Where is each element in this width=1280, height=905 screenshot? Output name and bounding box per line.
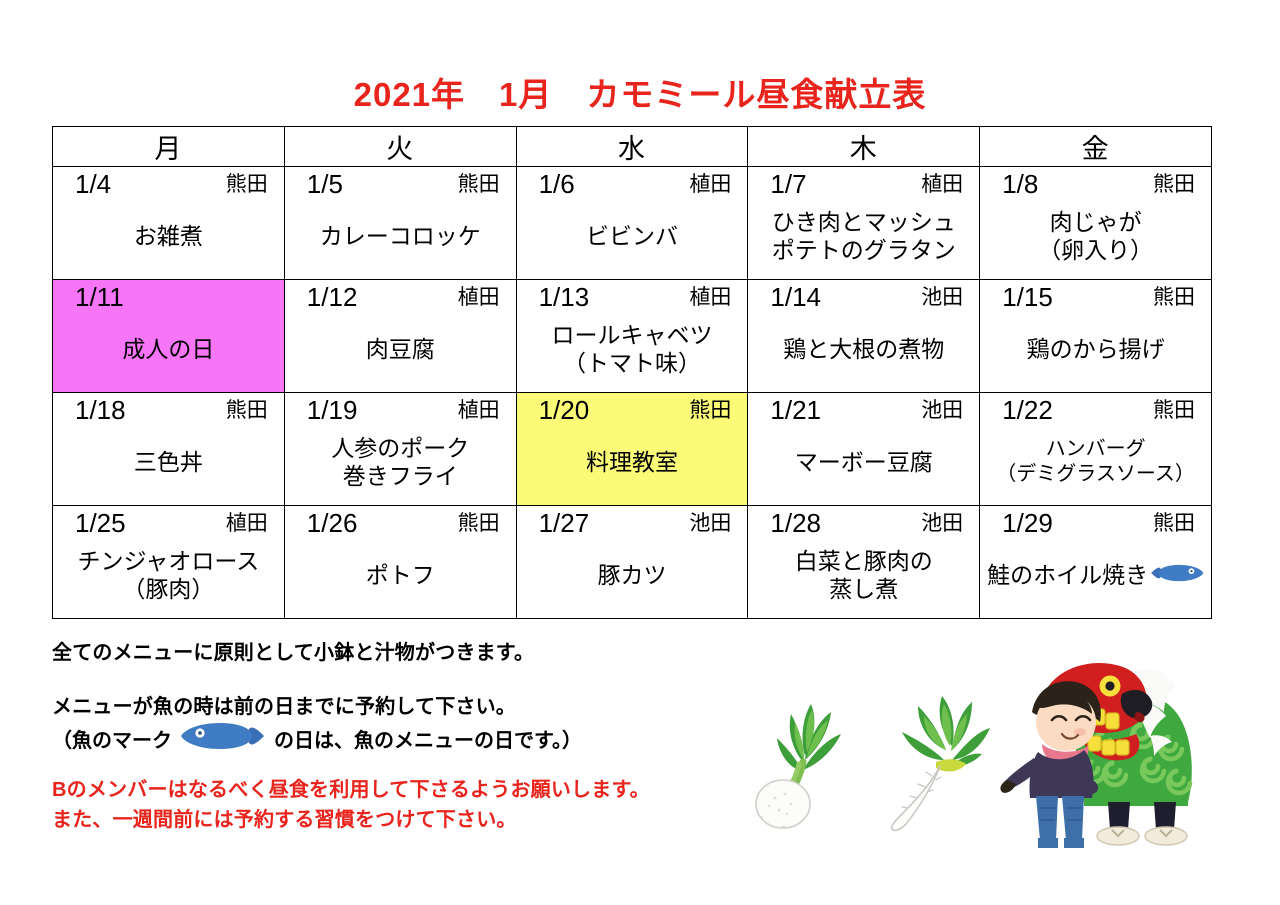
cell-menu-item: 鮭のホイル焼き — [980, 540, 1211, 618]
cell-staff-name: 植田 — [226, 508, 268, 539]
cell-date: 1/5 — [307, 169, 343, 199]
cell-menu-item: 豚カツ — [517, 540, 748, 618]
cell-staff-name: 熊田 — [1153, 395, 1195, 426]
cell-staff-name: 植田 — [921, 169, 963, 200]
cell-staff-name: 池田 — [921, 282, 963, 313]
menu-cell-1-14: 1/14池田鶏と大根の煮物 — [748, 280, 980, 393]
table-body: 1/4熊田お雑煮1/5熊田カレーコロッケ1/6植田ビビンバ1/7植田ひき肉とマッ… — [53, 167, 1212, 619]
cell-staff-name: 植田 — [458, 395, 500, 426]
menu-cell-1-6: 1/6植田ビビンバ — [516, 167, 748, 280]
cell-date: 1/12 — [307, 282, 358, 312]
fish-icon — [1150, 561, 1204, 589]
table-row: 1/4熊田お雑煮1/5熊田カレーコロッケ1/6植田ビビンバ1/7植田ひき肉とマッ… — [53, 167, 1212, 280]
menu-cell-1-18: 1/18熊田三色丼 — [53, 393, 285, 506]
cell-staff-name: 熊田 — [226, 395, 268, 426]
cell-date: 1/11 — [75, 282, 124, 312]
note-line-2: メニューが魚の時は前の日までに予約して下さい。 — [52, 692, 692, 722]
note-line-3: （魚のマーク の日は、魚のメニューの日です。） — [52, 722, 692, 759]
table-row: 1/11成人の日1/12植田肉豆腐1/13植田ロールキャベツ （トマト味）1/1… — [53, 280, 1212, 393]
cell-date: 1/26 — [307, 508, 358, 538]
menu-cell-1-26: 1/26熊田ポトフ — [284, 506, 516, 619]
cell-date: 1/15 — [1002, 282, 1053, 312]
menu-cell-1-22: 1/22熊田ハンバーグ （デミグラスソース） — [980, 393, 1212, 506]
cell-menu-item: 鶏と大根の煮物 — [748, 314, 979, 392]
column-header-monday: 月 — [53, 127, 285, 167]
cell-staff-name: 熊田 — [1153, 282, 1195, 313]
cell-date: 1/19 — [307, 395, 358, 425]
cell-menu-item: ハンバーグ （デミグラスソース） — [980, 427, 1211, 505]
cell-menu-text: 鮭のホイル焼き — [987, 561, 1148, 589]
notes-section: 全てのメニューに原則として小鉢と汁物がつきます。 メニューが魚の時は前の日までに… — [52, 638, 692, 835]
cell-menu-item: ひき肉とマッシュ ポテトのグラタン — [748, 201, 979, 279]
column-header-wednesday: 水 — [516, 127, 748, 167]
page-title: 2021年 1月 カモミール昼食献立表 — [0, 68, 1280, 116]
daikon-radish-illustration — [880, 688, 1005, 843]
menu-cell-1-28: 1/28池田白菜と豚肉の 蒸し煮 — [748, 506, 980, 619]
note-line-3-after: の日は、魚のメニューの日です。） — [274, 726, 582, 756]
cell-date: 1/14 — [770, 282, 821, 312]
cell-date: 1/28 — [770, 508, 821, 538]
menu-cell-1-4: 1/4熊田お雑煮 — [53, 167, 285, 280]
column-header-tuesday: 火 — [284, 127, 516, 167]
menu-cell-1-12: 1/12植田肉豆腐 — [284, 280, 516, 393]
cell-menu-item: 鶏のから揚げ — [980, 314, 1211, 392]
cell-menu-item: ロールキャベツ （トマト味） — [517, 314, 748, 392]
cell-staff-name: 熊田 — [1153, 508, 1195, 539]
cell-staff-name: 熊田 — [1153, 169, 1195, 200]
cell-date: 1/7 — [770, 169, 806, 199]
menu-cell-1-11: 1/11成人の日 — [53, 280, 285, 393]
table-row: 1/18熊田三色丼1/19植田人参のポーク 巻きフライ1/20熊田料理教室1/2… — [53, 393, 1212, 506]
cell-menu-item: チンジャオロース （豚肉） — [53, 540, 284, 618]
note-line-3-before: （魚のマーク — [52, 726, 172, 756]
menu-cell-1-15: 1/15熊田鶏のから揚げ — [980, 280, 1212, 393]
table-row: 1/25植田チンジャオロース （豚肉）1/26熊田ポトフ1/27池田豚カツ1/2… — [53, 506, 1212, 619]
lunch-menu-table: 月 火 水 木 金 1/4熊田お雑煮1/5熊田カレーコロッケ1/6植田ビビンバ1… — [52, 126, 1212, 619]
cell-date: 1/4 — [75, 169, 111, 199]
cell-date: 1/25 — [75, 508, 126, 538]
cell-date: 1/29 — [1002, 508, 1053, 538]
menu-cell-1-7: 1/7植田ひき肉とマッシュ ポテトのグラタン — [748, 167, 980, 280]
cell-menu-item: 肉じゃが （卵入り） — [980, 201, 1211, 279]
cell-staff-name: 植田 — [458, 282, 500, 313]
cell-staff-name: 植田 — [689, 282, 731, 313]
menu-cell-1-27: 1/27池田豚カツ — [516, 506, 748, 619]
column-header-thursday: 木 — [748, 127, 980, 167]
menu-cell-1-8: 1/8熊田肉じゃが （卵入り） — [980, 167, 1212, 280]
cell-date: 1/6 — [539, 169, 575, 199]
cell-menu-item: 成人の日 — [53, 314, 284, 392]
menu-cell-1-21: 1/21池田マーボー豆腐 — [748, 393, 980, 506]
cell-staff-name: 池田 — [921, 395, 963, 426]
cell-staff-name: 池田 — [689, 508, 731, 539]
cell-menu-item: 人参のポーク 巻きフライ — [285, 427, 516, 505]
cell-date: 1/21 — [770, 395, 821, 425]
cell-staff-name: 熊田 — [458, 169, 500, 200]
shishimai-lion-dance-illustration — [988, 640, 1206, 863]
cell-menu-item: 料理教室 — [517, 427, 748, 505]
cell-staff-name: 熊田 — [226, 169, 268, 200]
cell-menu-item: カレーコロッケ — [285, 201, 516, 279]
fish-icon — [180, 722, 266, 759]
menu-cell-1-5: 1/5熊田カレーコロッケ — [284, 167, 516, 280]
menu-cell-1-29: 1/29熊田鮭のホイル焼き — [980, 506, 1212, 619]
cell-menu-item: ポトフ — [285, 540, 516, 618]
cell-date: 1/8 — [1002, 169, 1038, 199]
cell-staff-name: 池田 — [921, 508, 963, 539]
cell-menu-item: ビビンバ — [517, 201, 748, 279]
turnip-illustration — [755, 690, 870, 835]
table-header-row: 月 火 水 木 金 — [53, 127, 1212, 167]
cell-menu-item: 肉豆腐 — [285, 314, 516, 392]
cell-staff-name: 植田 — [689, 169, 731, 200]
cell-date: 1/20 — [539, 395, 590, 425]
menu-cell-1-19: 1/19植田人参のポーク 巻きフライ — [284, 393, 516, 506]
cell-date: 1/18 — [75, 395, 126, 425]
cell-menu-item: マーボー豆腐 — [748, 427, 979, 505]
note-line-5: また、一週間前には予約する習慣をつけて下さい。 — [52, 805, 692, 835]
cell-date: 1/13 — [539, 282, 590, 312]
menu-cell-1-20: 1/20熊田料理教室 — [516, 393, 748, 506]
note-line-1: 全てのメニューに原則として小鉢と汁物がつきます。 — [52, 638, 692, 668]
column-header-friday: 金 — [980, 127, 1212, 167]
cell-menu-item: 三色丼 — [53, 427, 284, 505]
cell-menu-item: お雑煮 — [53, 201, 284, 279]
note-line-4: Bのメンバーはなるべく昼食を利用して下さるようお願いします。 — [52, 775, 692, 805]
cell-menu-item: 白菜と豚肉の 蒸し煮 — [748, 540, 979, 618]
cell-date: 1/27 — [539, 508, 590, 538]
menu-cell-1-25: 1/25植田チンジャオロース （豚肉） — [53, 506, 285, 619]
cell-date: 1/22 — [1002, 395, 1053, 425]
menu-cell-1-13: 1/13植田ロールキャベツ （トマト味） — [516, 280, 748, 393]
cell-staff-name: 熊田 — [689, 395, 731, 426]
cell-staff-name: 熊田 — [458, 508, 500, 539]
